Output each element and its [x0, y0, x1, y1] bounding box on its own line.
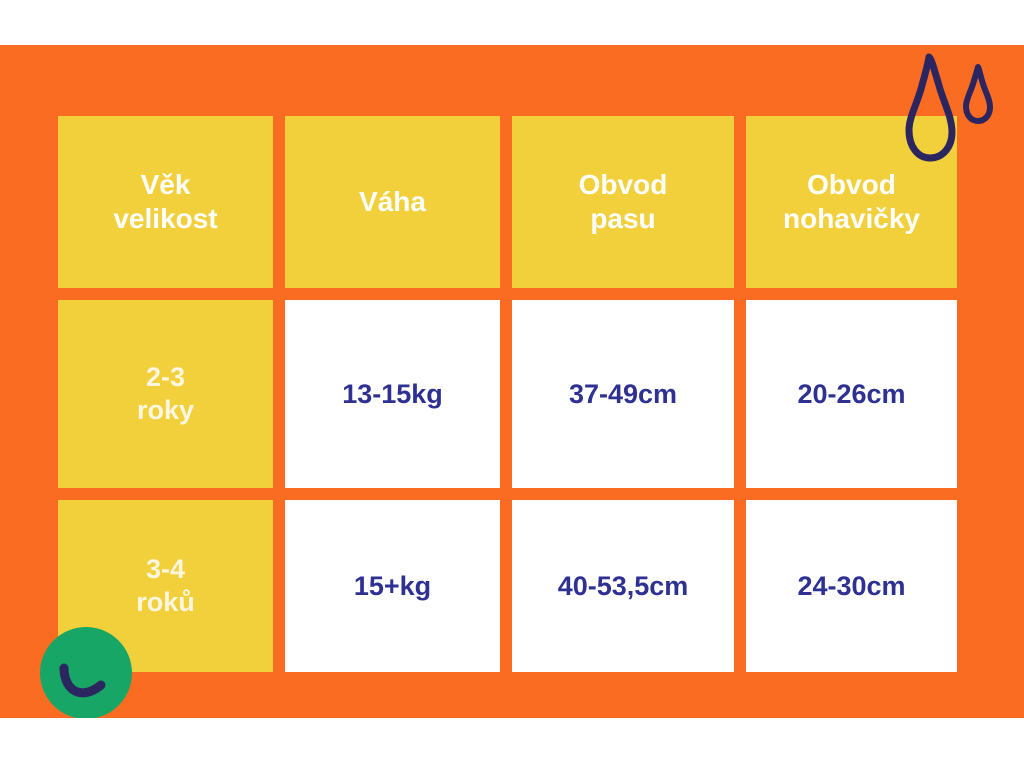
- row1-leg-value: 20-26cm: [746, 300, 957, 488]
- header-waist-line2: pasu: [590, 203, 655, 234]
- row1-weight-value: 13-15kg: [285, 300, 500, 488]
- header-leg-line2: nohavičky: [783, 203, 920, 234]
- orange-poster-panel: Věk velikost Váha Obvod pasu Obvod nohav…: [0, 45, 1024, 718]
- row1-age-line1: 2-3: [146, 362, 185, 392]
- header-age-line2: velikost: [113, 203, 217, 234]
- table-header-leg: Obvod nohavičky: [746, 116, 957, 288]
- row2-waist-value: 40-53,5cm: [512, 500, 734, 672]
- smiley-face-icon: [38, 625, 134, 718]
- table-header-weight: Váha: [285, 116, 500, 288]
- table-row: 2-3 roky: [58, 300, 273, 488]
- row2-age-line1: 3-4: [146, 554, 185, 584]
- row2-age-line2: roků: [136, 587, 195, 617]
- header-leg-line1: Obvod: [807, 169, 896, 200]
- header-age-line1: Věk: [141, 169, 191, 200]
- row2-leg-value: 24-30cm: [746, 500, 957, 672]
- header-waist-line1: Obvod: [579, 169, 668, 200]
- row2-weight-value: 15+kg: [285, 500, 500, 672]
- header-weight-label: Váha: [359, 185, 426, 219]
- row1-waist-value: 37-49cm: [512, 300, 734, 488]
- poster-page: Věk velikost Váha Obvod pasu Obvod nohav…: [0, 0, 1024, 768]
- size-chart-table: Věk velikost Váha Obvod pasu Obvod nohav…: [58, 116, 958, 662]
- table-header-age-size: Věk velikost: [58, 116, 273, 288]
- table-header-waist: Obvod pasu: [512, 116, 734, 288]
- row1-age-line2: roky: [137, 395, 194, 425]
